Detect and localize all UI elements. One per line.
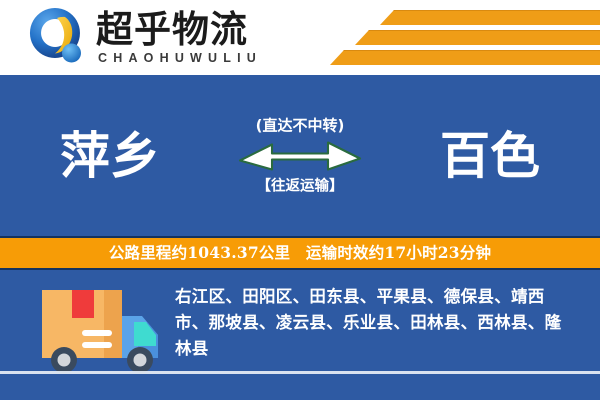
- banner-header: 超乎物流 CHAOHUWULIU: [0, 0, 600, 75]
- coverage-section: 右江区、田阳区、田东县、平果县、德保县、靖西市、那坡县、凌云县、乐业县、田林县、…: [0, 270, 600, 400]
- bottom-divider: [0, 371, 600, 374]
- double-headed-arrow-icon: [238, 138, 362, 172]
- brand-name-cn: 超乎物流: [96, 10, 262, 50]
- speed-stripes-icon: [330, 6, 600, 70]
- distance-duration-band: 公路里程约1043.37公里 运输时效约17小时23分钟: [0, 236, 600, 270]
- route-arrow-group: (直达不中转) 【往返运输】: [205, 116, 395, 195]
- route-note-roundtrip: 【往返运输】: [257, 177, 344, 195]
- distance-duration-text: 公路里程约1043.37公里 运输时效约17小时23分钟: [109, 244, 491, 262]
- delivery-truck-icon: [30, 278, 170, 378]
- origin-city: 萍乡: [60, 128, 160, 184]
- logistics-route-banner: 超乎物流 CHAOHUWULIU 萍乡 (直达不中转) 【往返运输】 百色 公路…: [0, 0, 600, 400]
- brand-text-block: 超乎物流 CHAOHUWULIU: [96, 8, 262, 66]
- speed-stripe-1: [380, 10, 600, 25]
- destination-city: 百色: [440, 128, 540, 184]
- coverage-area-list: 右江区、田阳区、田东县、平果县、德保县、靖西市、那坡县、凌云县、乐业县、田林县、…: [175, 284, 575, 362]
- brand-name-en: CHAOHUWULIU: [98, 51, 262, 66]
- route-note-direct: (直达不中转): [256, 116, 345, 134]
- route-section: 萍乡 (直达不中转) 【往返运输】 百色: [0, 75, 600, 236]
- circle-crescent-logo-icon: [24, 6, 86, 68]
- speed-stripe-2: [355, 30, 600, 45]
- speed-stripe-3: [330, 50, 600, 65]
- brand-logo: 超乎物流 CHAOHUWULIU: [24, 6, 262, 68]
